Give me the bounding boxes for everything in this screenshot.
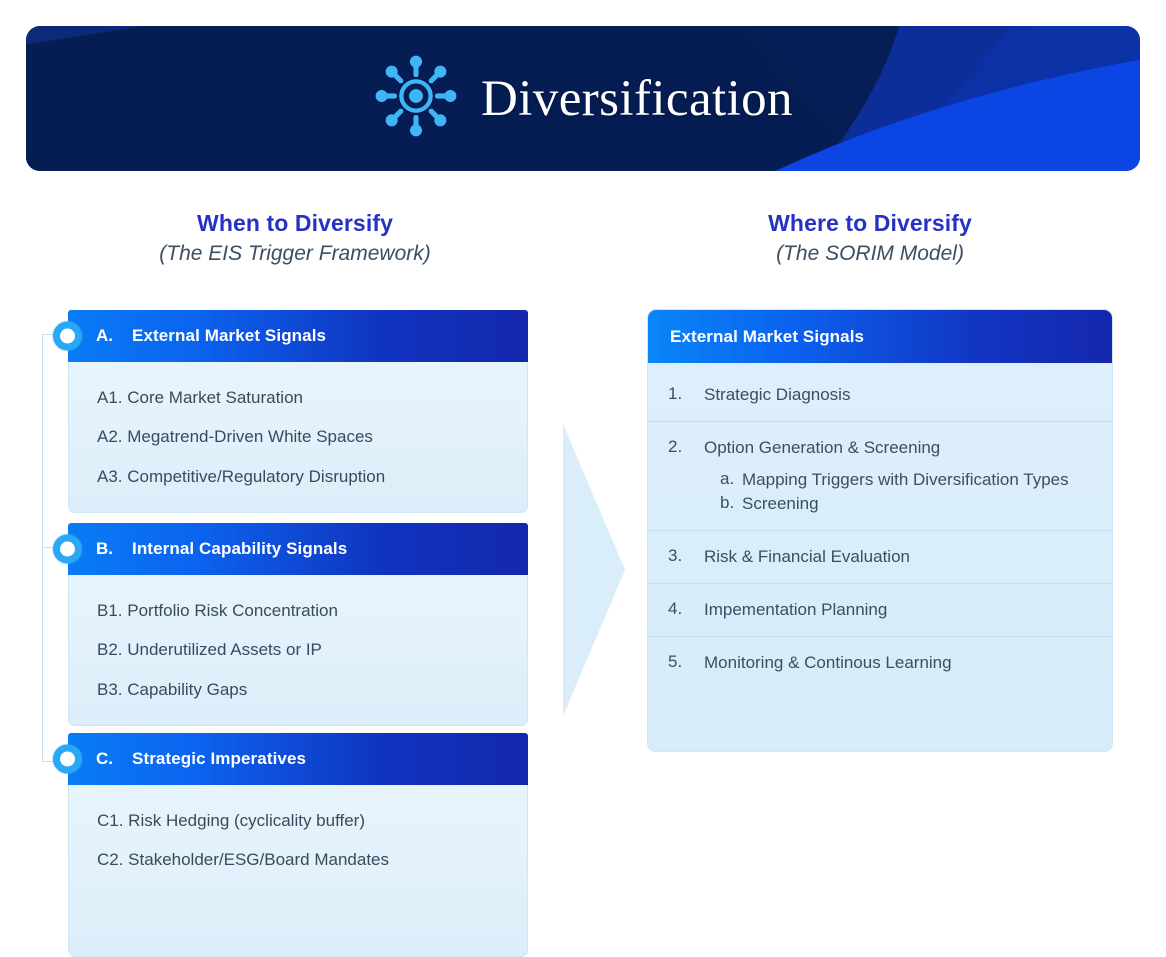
- sub-step-letter: b.: [704, 493, 742, 515]
- trigger-card-a[interactable]: A. External Market Signals A1. Core Mark…: [68, 310, 528, 513]
- trigger-card-a-letter: A.: [96, 326, 132, 346]
- list-item: 2. Option Generation & Screening a. Mapp…: [648, 421, 1112, 530]
- sorim-panel-body: 1. Strategic Diagnosis 2. Option Generat…: [648, 363, 1112, 751]
- trigger-card-b[interactable]: B. Internal Capability Signals B1. Portf…: [68, 523, 528, 726]
- list-item: 5. Monitoring & Continous Learning: [648, 636, 1112, 689]
- list-item: B1. Portfolio Risk Concentration: [69, 591, 527, 630]
- list-item: 1. Strategic Diagnosis: [648, 369, 1112, 421]
- sorim-panel-header: External Market Signals: [648, 310, 1112, 363]
- trigger-card-c-letter: C.: [96, 749, 132, 769]
- list-item: A1. Core Market Saturation: [69, 378, 527, 417]
- trigger-card-a-body: A1. Core Market Saturation A2. Megatrend…: [68, 362, 528, 513]
- bullet-icon: [53, 535, 82, 564]
- list-item: C2. Stakeholder/ESG/Board Mandates: [69, 840, 527, 879]
- step-number: 2.: [668, 437, 704, 515]
- trigger-card-c[interactable]: C. Strategic Imperatives C1. Risk Hedgin…: [68, 733, 528, 957]
- sub-list-item: a. Mapping Triggers with Diversification…: [704, 469, 1092, 491]
- step-number: 1.: [668, 384, 704, 406]
- step-number: 5.: [668, 652, 704, 674]
- step-text: Option Generation & Screening: [704, 438, 940, 457]
- list-item: B3. Capability Gaps: [69, 670, 527, 709]
- left-column-heading: When to Diversify (The EIS Trigger Frame…: [45, 210, 545, 266]
- bullet-icon: [53, 745, 82, 774]
- step-number: 3.: [668, 546, 704, 568]
- header-banner: Diversification: [26, 26, 1140, 171]
- trigger-card-c-body: C1. Risk Hedging (cyclicality buffer) C2…: [68, 785, 528, 957]
- sub-list-item: b. Screening: [704, 493, 1092, 515]
- diversification-hub-icon: [373, 53, 459, 144]
- list-item: 4. Impementation Planning: [648, 583, 1112, 636]
- sorim-model-panel[interactable]: External Market Signals 1. Strategic Dia…: [648, 310, 1112, 751]
- page-title: Diversification: [481, 70, 793, 128]
- sub-step-text: Screening: [742, 493, 1092, 515]
- bullet-icon: [53, 322, 82, 351]
- list-item: B2. Underutilized Assets or IP: [69, 630, 527, 669]
- trigger-card-a-title: External Market Signals: [132, 326, 326, 346]
- left-heading-main: When to Diversify: [45, 210, 545, 237]
- trigger-card-b-title: Internal Capability Signals: [132, 539, 347, 559]
- trigger-card-b-header: B. Internal Capability Signals: [68, 523, 528, 575]
- trigger-card-a-header: A. External Market Signals: [68, 310, 528, 362]
- trigger-card-c-title: Strategic Imperatives: [132, 749, 306, 769]
- step-text: Impementation Planning: [704, 600, 887, 619]
- trigger-card-b-body: B1. Portfolio Risk Concentration B2. Und…: [68, 575, 528, 726]
- sorim-panel-title: External Market Signals: [670, 327, 864, 347]
- right-heading-main: Where to Diversify: [620, 210, 1120, 237]
- step-text: Strategic Diagnosis: [704, 385, 850, 404]
- list-item: C1. Risk Hedging (cyclicality buffer): [69, 801, 527, 840]
- sub-step-letter: a.: [704, 469, 742, 491]
- step-text: Monitoring & Continous Learning: [704, 653, 952, 672]
- list-item: 3. Risk & Financial Evaluation: [648, 530, 1112, 583]
- step-text: Risk & Financial Evaluation: [704, 547, 910, 566]
- sub-step-text: Mapping Triggers with Diversification Ty…: [742, 469, 1092, 491]
- right-heading-sub: (The SORIM Model): [620, 242, 1120, 266]
- right-column-heading: Where to Diversify (The SORIM Model): [620, 210, 1120, 266]
- trigger-card-c-header: C. Strategic Imperatives: [68, 733, 528, 785]
- list-item: A2. Megatrend-Driven White Spaces: [69, 417, 527, 456]
- left-heading-sub: (The EIS Trigger Framework): [45, 242, 545, 266]
- step-number: 4.: [668, 599, 704, 621]
- list-item: A3. Competitive/Regulatory Disruption: [69, 457, 527, 496]
- right-arrow-icon: [563, 424, 625, 716]
- trigger-card-b-letter: B.: [96, 539, 132, 559]
